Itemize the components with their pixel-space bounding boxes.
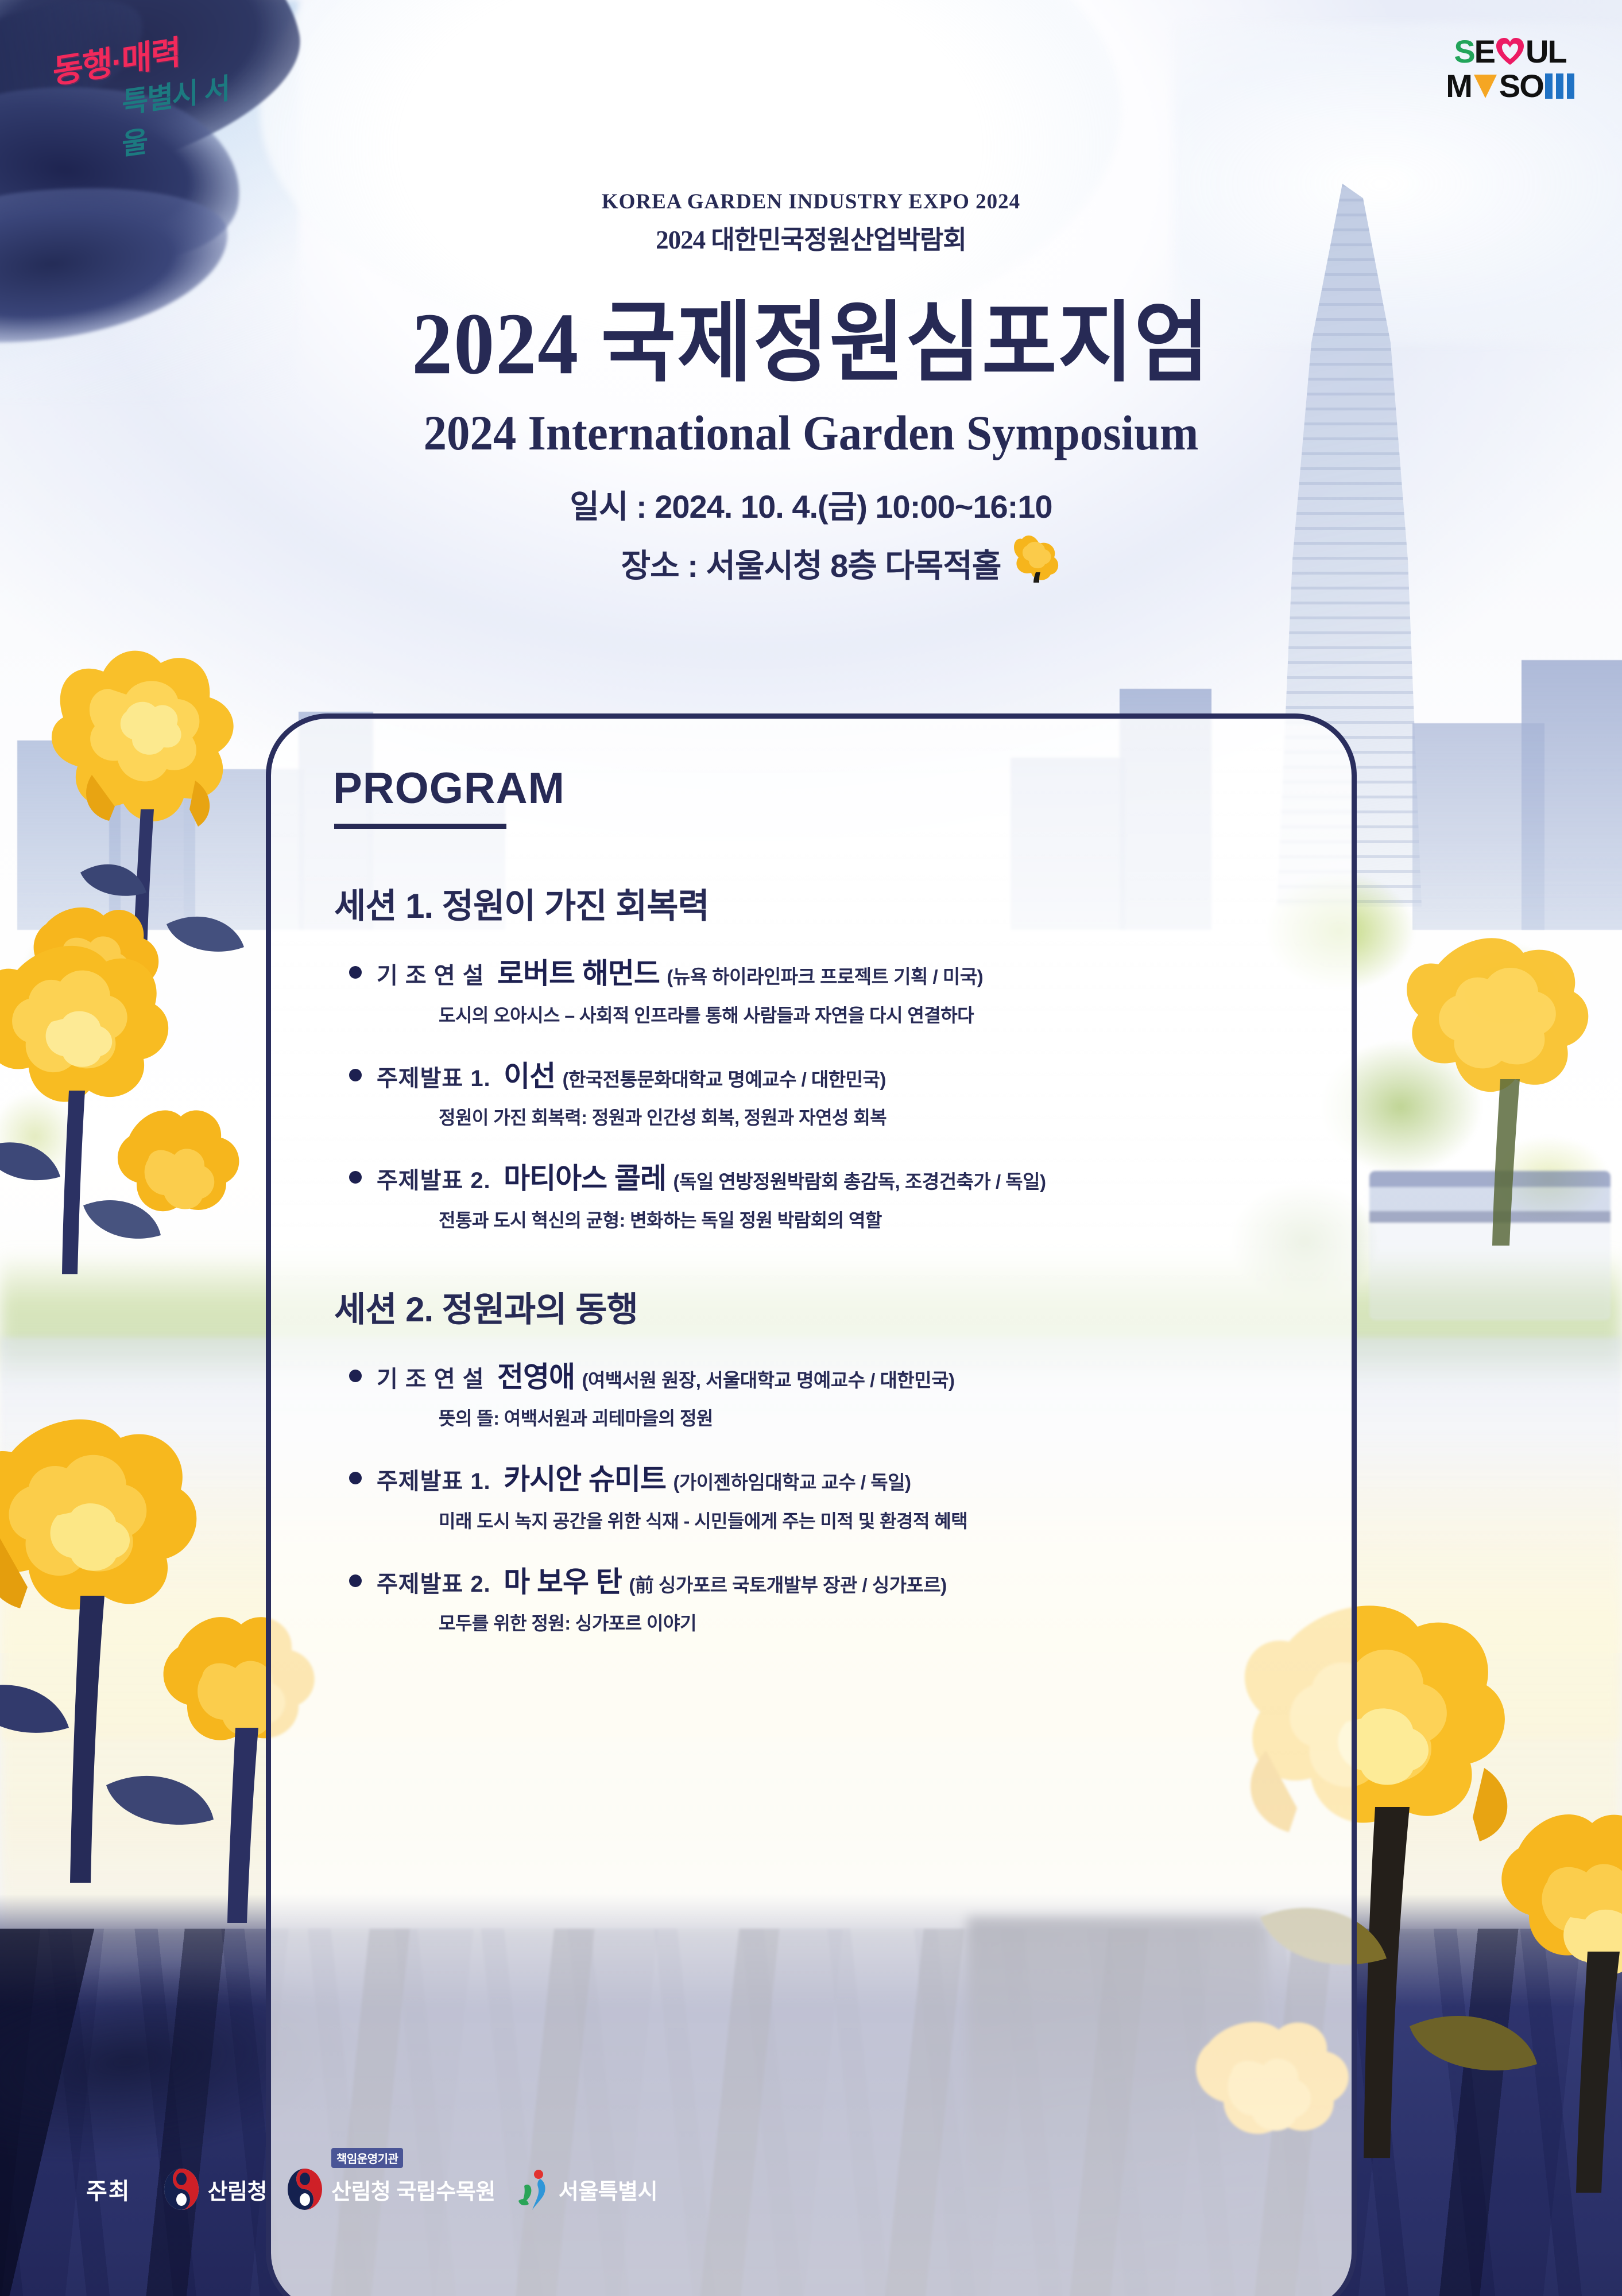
- sms-letter-s: S: [1454, 36, 1474, 68]
- bullet-icon: [349, 1574, 362, 1587]
- bullet-icon: [349, 966, 362, 979]
- program-item-role: 주제발표 1.: [377, 1066, 491, 1091]
- program-item: 주제발표 1. 이선 (한국전통문화대학교 명예교수 / 대한민국) 정원이 가…: [326, 1058, 1296, 1130]
- program-item-speaker: 전영애: [497, 1361, 575, 1393]
- session-2: 세션 2. 정원과의 동행 기 조 연 설 전영애 (여백서원 원장, 서울대학…: [326, 1282, 1296, 1636]
- sms-bar: [1545, 73, 1553, 99]
- sms-bar: [1556, 73, 1563, 99]
- bullet-icon: [349, 1370, 362, 1382]
- program-item-speaker: 마티아스 콜레: [504, 1162, 666, 1194]
- program-item-role: 주제발표 2.: [377, 1572, 491, 1597]
- organizer-name: 서울특별시: [559, 2174, 657, 2205]
- program-item-speaker: 로버트 해먼드: [497, 957, 660, 990]
- organizer-name: 산림청: [208, 2174, 267, 2205]
- seoul-brand-brush-logo: 동행·매력 특별시 서울: [51, 22, 249, 133]
- bullet-icon: [349, 1472, 362, 1484]
- organizer-name: 산림청 국립수목원: [331, 2174, 495, 2205]
- program-item-role: 기 조 연 설: [377, 963, 485, 988]
- program-item: 기 조 연 설 전영애 (여백서원 원장, 서울대학교 명예교수 / 대한민국)…: [326, 1359, 1296, 1431]
- program-item-headline: 주제발표 1. 이선 (한국전통문화대학교 명예교수 / 대한민국): [377, 1058, 1296, 1095]
- sms-letters-ul: UL: [1526, 36, 1566, 68]
- program-item-subtitle: 뜻의 뜰: 여백서원과 괴테마을의 정원: [439, 1404, 1296, 1430]
- session-1-heading: 세션 1. 정원이 가진 회복력: [334, 878, 1296, 928]
- brush-logo-line2: 특별시 서울: [122, 63, 247, 163]
- tulip-accent-icon: [1009, 528, 1061, 583]
- program-item-headline: 주제발표 2. 마티아스 콜레 (독일 연방정원박람회 총감독, 조경건축가 /…: [377, 1161, 1296, 1197]
- government-taegeuk-icon: [163, 2167, 200, 2211]
- program-item-headline: 주제발표 1. 카시안 슈미트 (가이젠하임대학교 교수 / 독일): [377, 1461, 1296, 1498]
- organizer-national-arboretum: 책임운영기관 산림청 국립수목원: [287, 2167, 495, 2211]
- sms-line-2: M SO: [1433, 70, 1588, 102]
- bullet-icon: [349, 1171, 362, 1184]
- sms-blue-bars-ul: [1545, 73, 1574, 99]
- program-card: PROGRAM 세션 1. 정원이 가진 회복력 기 조 연 설 로버트 해먼드…: [266, 713, 1357, 2296]
- poster-header: KOREA GARDEN INDUSTRY EXPO 2024 2024 대한민…: [0, 189, 1622, 587]
- program-item-subtitle: 도시의 오아시스 – 사회적 인프라를 통해 사람들과 자연을 다시 연결하다: [439, 1001, 1296, 1027]
- event-venue-text: 장소 : 서울시청 8층 다목적홀: [621, 548, 1001, 584]
- program-item-headline: 기 조 연 설 전영애 (여백서원 원장, 서울대학교 명예교수 / 대한민국): [377, 1359, 1296, 1395]
- poster-root: 동행·매력 특별시 서울 S E UL M SO KOREA GARD: [0, 0, 1622, 2296]
- program-item-role: 주제발표 1.: [377, 1469, 491, 1494]
- sms-line-1: S E UL: [1433, 36, 1588, 68]
- program-item-speaker: 마 보우 탄: [504, 1566, 622, 1598]
- seoul-city-symbol-icon: [515, 2169, 551, 2210]
- sms-letters-so: SO: [1499, 70, 1543, 102]
- event-venue: 장소 : 서울시청 8층 다목적홀: [621, 540, 1001, 587]
- program-item-affiliation: (뉴욕 하이라인파크 프로젝트 기획 / 미국): [667, 966, 983, 987]
- program-item-speaker: 카시안 슈미트: [504, 1463, 666, 1495]
- program-item: 기 조 연 설 로버트 해먼드 (뉴욕 하이라인파크 프로젝트 기획 / 미국)…: [326, 956, 1296, 1027]
- program-item: 주제발표 2. 마티아스 콜레 (독일 연방정원박람회 총감독, 조경건축가 /…: [326, 1161, 1296, 1232]
- organizer-seoul-metropolitan-government: 서울특별시: [515, 2169, 657, 2210]
- program-item-subtitle: 전통과 도시 혁신의 균형: 변화하는 독일 정원 박람회의 역할: [439, 1206, 1296, 1232]
- page-title: 2024 국제정원심포지엄: [0, 271, 1622, 398]
- program-item-affiliation: (前 싱가포르 국토개발부 장관 / 싱가포르): [629, 1574, 946, 1596]
- program-item-affiliation: (한국전통문화대학교 명예교수 / 대한민국): [563, 1069, 886, 1090]
- program-card-inner: PROGRAM 세션 1. 정원이 가진 회복력 기 조 연 설 로버트 해먼드…: [271, 719, 1352, 1711]
- program-item-subtitle: 미래 도시 녹지 공간을 위한 식재 - 시민들에게 주는 미적 및 환경적 혜…: [439, 1507, 1296, 1533]
- program-item-affiliation: (여백서원 원장, 서울대학교 명예교수 / 대한민국): [582, 1370, 954, 1391]
- organizer-korea-forest-service: 산림청: [163, 2167, 267, 2211]
- program-item-headline: 기 조 연 설 로버트 해먼드 (뉴욕 하이라인파크 프로젝트 기획 / 미국): [377, 956, 1296, 992]
- sms-letter-e: E: [1474, 36, 1495, 68]
- program-heading: PROGRAM: [333, 763, 1296, 813]
- program-item-role: 주제발표 2.: [377, 1168, 491, 1193]
- session-2-items: 기 조 연 설 전영애 (여백서원 원장, 서울대학교 명예교수 / 대한민국)…: [326, 1359, 1296, 1636]
- expo-kicker-english: KOREA GARDEN INDUSTRY EXPO 2024: [0, 189, 1622, 214]
- sms-bar: [1567, 73, 1574, 99]
- program-item-role: 기 조 연 설: [377, 1367, 485, 1392]
- program-item-speaker: 이선: [504, 1060, 555, 1092]
- event-date: 일시 : 2024. 10. 4.(금) 10:00~16:10: [0, 481, 1622, 528]
- tulip-cluster-left-lower: [0, 895, 247, 1309]
- program-item-affiliation: (가이젠하임대학교 교수 / 독일): [673, 1472, 911, 1493]
- program-item-subtitle: 정원이 가진 회복력: 정원과 인간성 회복, 정원과 자연성 회복: [439, 1103, 1296, 1130]
- session-2-heading: 세션 2. 정원과의 동행: [334, 1282, 1296, 1332]
- page-subtitle-english: 2024 International Garden Symposium: [49, 404, 1574, 461]
- tulip-cluster-right-mid: [1369, 895, 1611, 1251]
- bullet-icon: [349, 1069, 362, 1081]
- program-heading-rule: [334, 824, 506, 829]
- footer-label-host: 주최: [86, 2173, 131, 2206]
- program-item: 주제발표 2. 마 보우 탄 (前 싱가포르 국토개발부 장관 / 싱가포르) …: [326, 1564, 1296, 1636]
- triangle-icon: [1473, 73, 1498, 99]
- heart-icon: [1495, 37, 1525, 66]
- sms-letter-m: M: [1446, 70, 1472, 102]
- program-item-affiliation: (독일 연방정원박람회 총감독, 조경건축가 / 독일): [673, 1171, 1046, 1192]
- expo-kicker-korean: 2024 대한민국정원산업박람회: [0, 219, 1622, 256]
- session-1: 세션 1. 정원이 가진 회복력 기 조 연 설 로버트 해먼드 (뉴욕 하이라…: [326, 878, 1296, 1232]
- program-item-headline: 주제발표 2. 마 보우 탄 (前 싱가포르 국토개발부 장관 / 싱가포르): [377, 1564, 1296, 1600]
- organizer-badge: 책임운영기관: [331, 2148, 403, 2168]
- program-item: 주제발표 1. 카시안 슈미트 (가이젠하임대학교 교수 / 독일) 미래 도시…: [326, 1461, 1296, 1533]
- session-1-items: 기 조 연 설 로버트 해먼드 (뉴욕 하이라인파크 프로젝트 기획 / 미국)…: [326, 956, 1296, 1232]
- seoul-my-soul-logo: S E UL M SO: [1433, 36, 1588, 110]
- program-item-subtitle: 모두를 위한 정원: 싱가포르 이야기: [439, 1609, 1296, 1635]
- footer-organizers: 주최 산림청 책임운영기관 산림청 국립수목원: [86, 2167, 657, 2211]
- government-taegeuk-icon: [287, 2167, 323, 2211]
